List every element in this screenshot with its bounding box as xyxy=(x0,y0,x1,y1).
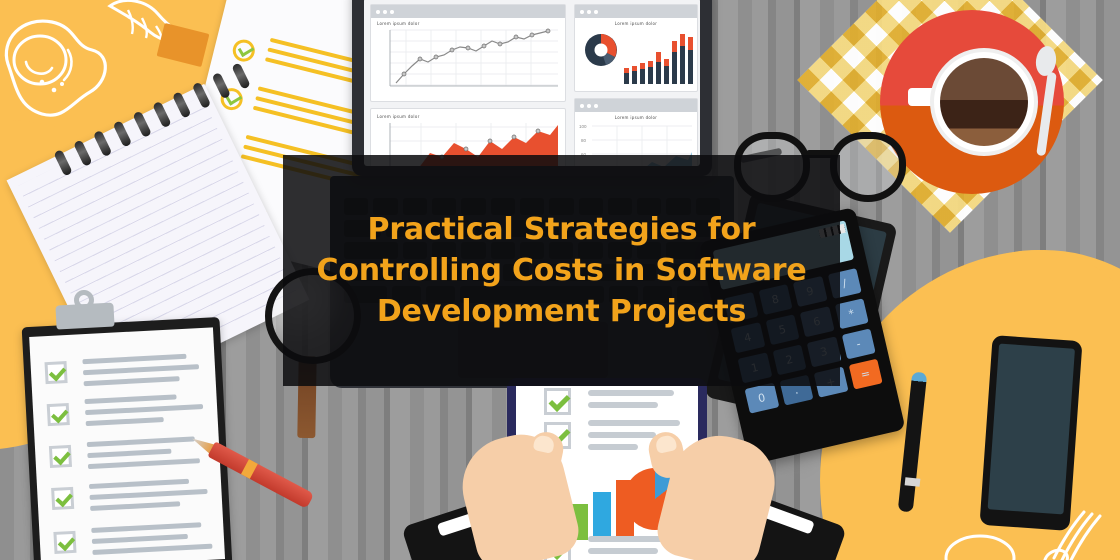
card-label: Lorem ipsum dolor xyxy=(371,109,565,119)
tablet-line xyxy=(588,444,638,450)
calculator-key-equals[interactable]: = xyxy=(848,359,882,390)
window-dot xyxy=(390,10,394,14)
checkbox-checked-icon xyxy=(51,487,74,510)
card-label: Lorem ipsum dolor xyxy=(371,18,565,26)
checkbox-checked-icon xyxy=(47,403,70,426)
clipboard-line xyxy=(83,364,199,375)
checkbox-checked-icon xyxy=(45,361,68,384)
clipboard-line xyxy=(84,376,180,386)
line-chart xyxy=(376,26,562,96)
page-title: Practical Strategies for Controlling Cos… xyxy=(305,209,818,332)
title-container: Practical Strategies for Controlling Cos… xyxy=(283,155,840,386)
card-label: Lorem ipsum dolor xyxy=(575,112,697,120)
clipboard-line xyxy=(84,394,176,404)
window-dot xyxy=(594,10,598,14)
checkbox-checked-icon xyxy=(49,445,72,468)
window-dot xyxy=(383,10,387,14)
clipboard-clip xyxy=(55,302,114,329)
window-dot xyxy=(594,104,598,108)
checkbox-checked-icon xyxy=(544,388,571,415)
clipboard-line xyxy=(90,489,208,500)
window-dot xyxy=(376,10,380,14)
clipboard-line xyxy=(86,417,164,426)
stylus-band xyxy=(905,477,921,487)
clipboard-line xyxy=(91,522,201,533)
clipboard-line xyxy=(87,449,171,458)
window-dot xyxy=(580,104,584,108)
banner-image: OK! xyxy=(0,0,1120,560)
tablet-line xyxy=(588,432,656,438)
clipboard-line xyxy=(89,479,189,489)
window-dot xyxy=(587,104,591,108)
clipboard-line xyxy=(85,404,203,415)
window-dot xyxy=(587,10,591,14)
calculator-key-minus[interactable]: - xyxy=(841,328,875,359)
laptop-display: Lorem ipsum dolor xyxy=(364,0,700,166)
card-titlebar xyxy=(371,5,565,18)
window-dot xyxy=(580,10,584,14)
smartphone-screen xyxy=(988,344,1075,515)
coffee-liquid xyxy=(940,58,1028,146)
clipboard-line xyxy=(92,534,188,544)
clipboard-line xyxy=(88,458,200,469)
glasses-right-lens xyxy=(830,132,906,202)
card-titlebar xyxy=(575,5,697,18)
dashboard-card-donut-bar: Lorem ipsum dolor xyxy=(574,4,698,92)
donut-and-bar-chart xyxy=(578,26,696,88)
svg-text:100: 100 xyxy=(579,124,587,129)
clipboard-line xyxy=(92,544,212,555)
checkbox-checked-icon xyxy=(53,531,76,554)
card-label: Lorem ipsum dolor xyxy=(575,18,697,26)
clipboard-line xyxy=(87,436,195,447)
smartphone xyxy=(979,335,1082,531)
tablet-line xyxy=(588,402,658,408)
tablet-line xyxy=(588,420,680,426)
laptop-screen: Lorem ipsum dolor xyxy=(352,0,712,176)
svg-text:80: 80 xyxy=(581,138,587,143)
clipboard-line xyxy=(90,501,180,511)
tablet-line xyxy=(588,390,674,396)
card-titlebar xyxy=(575,99,697,112)
dashboard-card-line-chart: Lorem ipsum dolor xyxy=(370,4,566,102)
clipboard-line xyxy=(82,354,186,364)
calculator-key-0[interactable]: 0 xyxy=(745,383,779,414)
tablet-line xyxy=(588,548,658,554)
